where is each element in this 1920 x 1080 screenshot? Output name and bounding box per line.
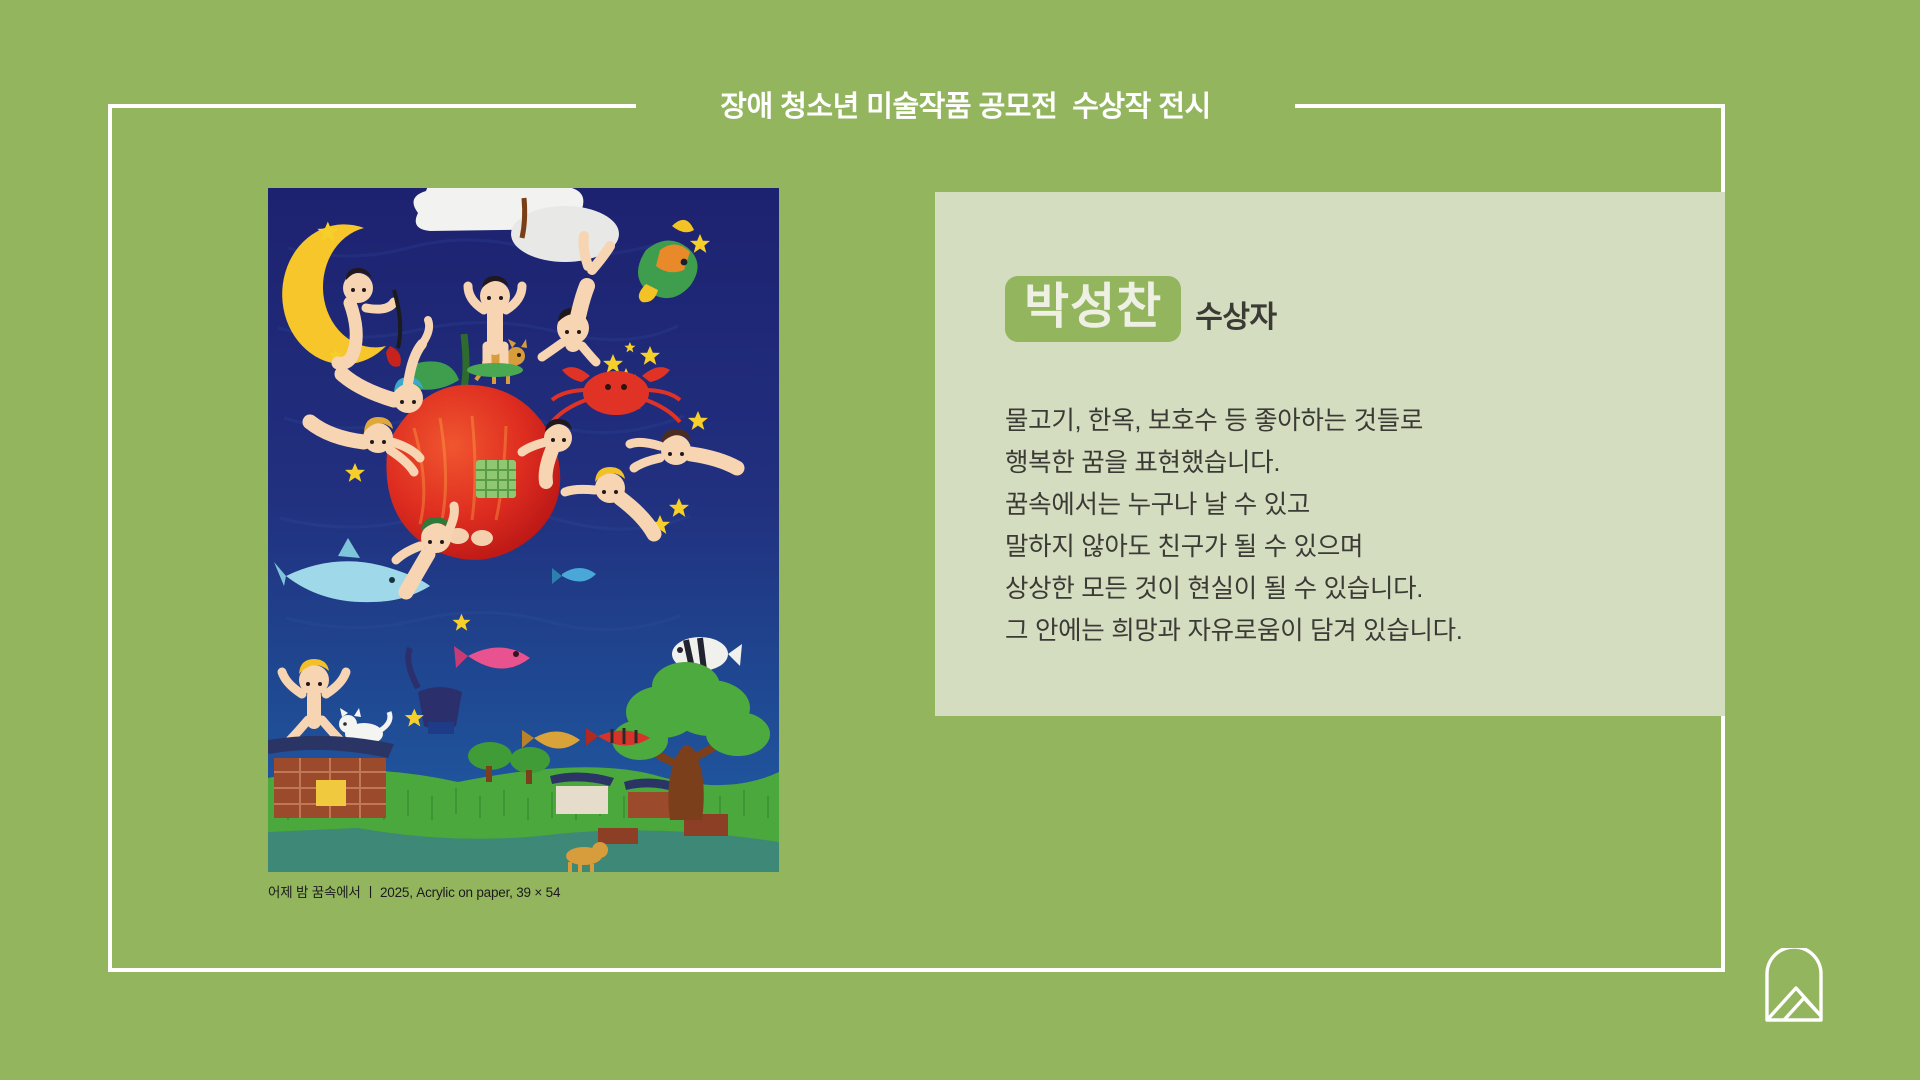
page-title: 장애 청소년 미술작품 공모전 수상작 전시 bbox=[636, 80, 1295, 128]
statement-line: 행복한 꿈을 표현했습니다. bbox=[1005, 442, 1463, 484]
frame-top-right-rule bbox=[1295, 104, 1725, 108]
winner-row: 박성찬 수상자 bbox=[1005, 276, 1277, 342]
statement-line: 그 안에는 희망과 자유로움이 담겨 있습니다. bbox=[1005, 610, 1463, 652]
artwork-image bbox=[268, 188, 779, 872]
artwork-block: 어제 밤 꿈속에서 ㅣ 2025, Acrylic on paper, 39 ×… bbox=[268, 188, 779, 901]
statement-line: 물고기, 한옥, 보호수 등 좋아하는 것들로 bbox=[1005, 400, 1463, 442]
winner-role-label: 수상자 bbox=[1195, 303, 1276, 342]
frame-top-left-rule bbox=[108, 104, 636, 108]
arch-mountain-logo-icon bbox=[1760, 948, 1828, 1024]
artwork-caption: 어제 밤 꿈속에서 ㅣ 2025, Acrylic on paper, 39 ×… bbox=[268, 881, 779, 901]
statement-line: 상상한 모든 것이 현실이 될 수 있습니다. bbox=[1005, 568, 1463, 610]
winner-info-panel: 박성찬 수상자 물고기, 한옥, 보호수 등 좋아하는 것들로 행복한 꿈을 표… bbox=[935, 192, 1725, 716]
statement-line: 말하지 않아도 친구가 될 수 있으며 bbox=[1005, 526, 1463, 568]
hanok-left bbox=[268, 736, 394, 818]
winner-name-badge: 박성찬 bbox=[1005, 276, 1181, 342]
winner-statement: 물고기, 한옥, 보호수 등 좋아하는 것들로 행복한 꿈을 표현했습니다. 꿈… bbox=[1005, 400, 1463, 652]
statement-line: 꿈속에서는 누구나 날 수 있고 bbox=[1005, 484, 1463, 526]
